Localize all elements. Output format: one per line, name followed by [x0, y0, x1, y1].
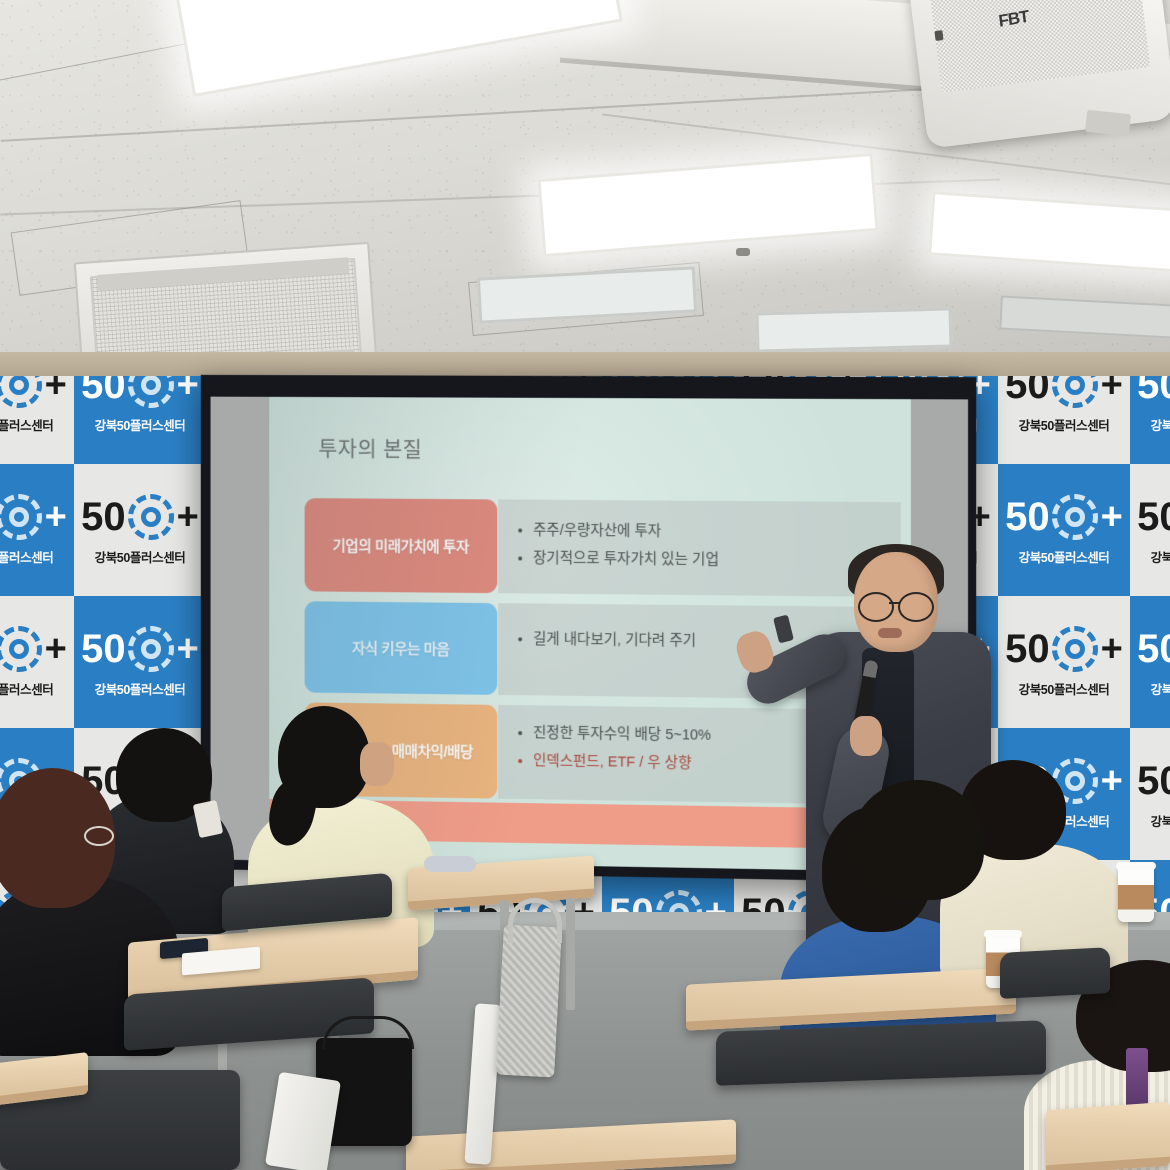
logo-ring-icon	[0, 626, 42, 672]
speaker-bracket	[934, 30, 943, 41]
fifty-plus-logo: 50+	[1005, 494, 1123, 540]
eyeglasses-right-lens	[898, 592, 934, 622]
slide-title: 투자의 본질	[318, 433, 422, 463]
attendee-hair	[852, 780, 984, 900]
lecture-hall-photo: FBT 50+강북50플러스센터50+강북50플러스센터50+강북50플러스센터…	[0, 0, 1170, 1170]
banner-center-name: 강북50플러스센터	[1019, 547, 1110, 566]
logo-plus: +	[177, 376, 199, 404]
eyeglasses-bridge	[889, 602, 900, 604]
presenter-mouth	[878, 628, 902, 638]
coffee-cup	[1118, 866, 1154, 922]
logo-number: 50	[1137, 629, 1170, 669]
banner-tile: 50+강북50플러스센터	[1130, 728, 1170, 860]
row-chip: 기업의 미래가치에 투자	[305, 498, 498, 593]
banner-tile: 50+강북50플러스센터	[0, 376, 74, 464]
eyeglasses-left-lens	[858, 592, 894, 622]
banner-tile: 50+강북50플러스센터	[74, 596, 206, 728]
logo-number: 50	[81, 376, 126, 405]
knit-tote-bag	[496, 925, 562, 1078]
logo-number: 50	[1005, 497, 1050, 537]
cup-lid	[1116, 862, 1156, 870]
fifty-plus-logo: 50+	[1005, 376, 1123, 408]
logo-plus: +	[45, 630, 67, 668]
cup-lid	[984, 930, 1022, 938]
speaker-mount	[1085, 110, 1131, 136]
banner-center-name: 강북50플러스센터	[1151, 811, 1170, 830]
logo-number: 50	[1005, 376, 1050, 405]
logo-plus: +	[1101, 376, 1123, 404]
fifty-plus-logo: 50+	[0, 376, 67, 408]
fifty-plus-logo: 50+	[81, 626, 199, 672]
fifty-plus-logo: 50+	[1137, 376, 1170, 408]
attendee-hands	[360, 742, 394, 786]
logo-number: 50	[81, 629, 126, 669]
banner-center-name: 강북50플러스센터	[1019, 679, 1110, 698]
banner-center-name: 강북50플러스센터	[0, 547, 53, 566]
eyeglasses-case	[424, 856, 476, 872]
ceiling: FBT	[0, 0, 1170, 400]
logo-plus: +	[177, 630, 199, 668]
logo-ring-icon	[1052, 376, 1098, 408]
fifty-plus-logo: 50+	[1005, 626, 1123, 672]
banner-center-name: 강북50플러스센터	[1151, 547, 1170, 566]
logo-number: 50	[1137, 376, 1170, 405]
fifty-plus-logo: 50+	[81, 494, 199, 540]
banner-center-name: 강북50플러스센터	[95, 679, 186, 698]
presenter-hand-right	[850, 716, 882, 756]
logo-plus: +	[1101, 630, 1123, 668]
ceiling-light-panel-dim	[756, 307, 953, 352]
banner-tile: 50+강북50플러스센터	[1130, 596, 1170, 728]
fifty-plus-logo: 50+	[1137, 758, 1170, 804]
logo-plus: +	[45, 376, 67, 404]
chair	[1000, 947, 1110, 999]
desk-leg	[566, 898, 575, 1010]
banner-tile: 50+강북50플러스센터	[0, 464, 74, 596]
banner-tile: 50+강북50플러스센터	[998, 464, 1130, 596]
logo-ring-icon	[1052, 626, 1098, 672]
logo-number: 50	[1137, 761, 1170, 801]
logo-ring-icon	[0, 494, 42, 540]
banner-center-name: 강북50플러스센터	[1151, 679, 1170, 698]
banner-tile: 50+강북50플러스센터	[998, 376, 1130, 464]
fifty-plus-logo: 50+	[81, 376, 199, 408]
banner-center-name: 강북50플러스센터	[0, 679, 53, 698]
banner-center-name: 강북50플러스센터	[95, 415, 186, 434]
speaker-grille	[930, 0, 1151, 92]
banner-tile: 50+강북50플러스센터	[1130, 464, 1170, 596]
fifty-plus-logo: 50+	[1137, 626, 1170, 672]
chair	[716, 1020, 1046, 1086]
banner-tile: 50+강북50플러스센터	[74, 376, 206, 464]
banner-tile: 50+강북50플러스센터	[74, 464, 206, 596]
logo-plus: +	[1101, 498, 1123, 536]
banner-tile: 50+강북50플러스센터	[1130, 376, 1170, 464]
banner-center-name: 강북50플러스센터	[1151, 415, 1170, 434]
fifty-plus-logo: 50+	[1137, 494, 1170, 540]
banner-tile: 50+강북50플러스센터	[998, 596, 1130, 728]
logo-ring-icon	[128, 494, 174, 540]
eyeglasses	[84, 826, 114, 846]
logo-ring-icon	[128, 626, 174, 672]
logo-ring-icon	[1052, 494, 1098, 540]
logo-number: 50	[81, 497, 126, 537]
attendee-right-curly	[852, 780, 992, 930]
tote-handle	[508, 898, 562, 943]
fifty-plus-logo: 50+	[0, 494, 67, 540]
smoke-detector	[736, 248, 750, 256]
fifty-plus-logo: 50+	[0, 626, 67, 672]
logo-plus: +	[45, 498, 67, 536]
desk	[1046, 1102, 1170, 1170]
banner-center-name: 강북50플러스센터	[95, 547, 186, 566]
banner-center-name: 강북50플러스센터	[1019, 415, 1110, 434]
logo-number: 50	[1005, 629, 1050, 669]
banner-center-name: 강북50플러스센터	[0, 415, 53, 434]
logo-plus: +	[177, 498, 199, 536]
banner-tile: 50+강북50플러스센터	[0, 596, 74, 728]
logo-number: 50	[1137, 497, 1170, 537]
logo-ring-icon	[128, 376, 174, 408]
row-chip: 자식 키우는 마음	[305, 601, 498, 695]
lanyard	[1126, 1048, 1148, 1108]
logo-ring-icon	[0, 376, 42, 408]
